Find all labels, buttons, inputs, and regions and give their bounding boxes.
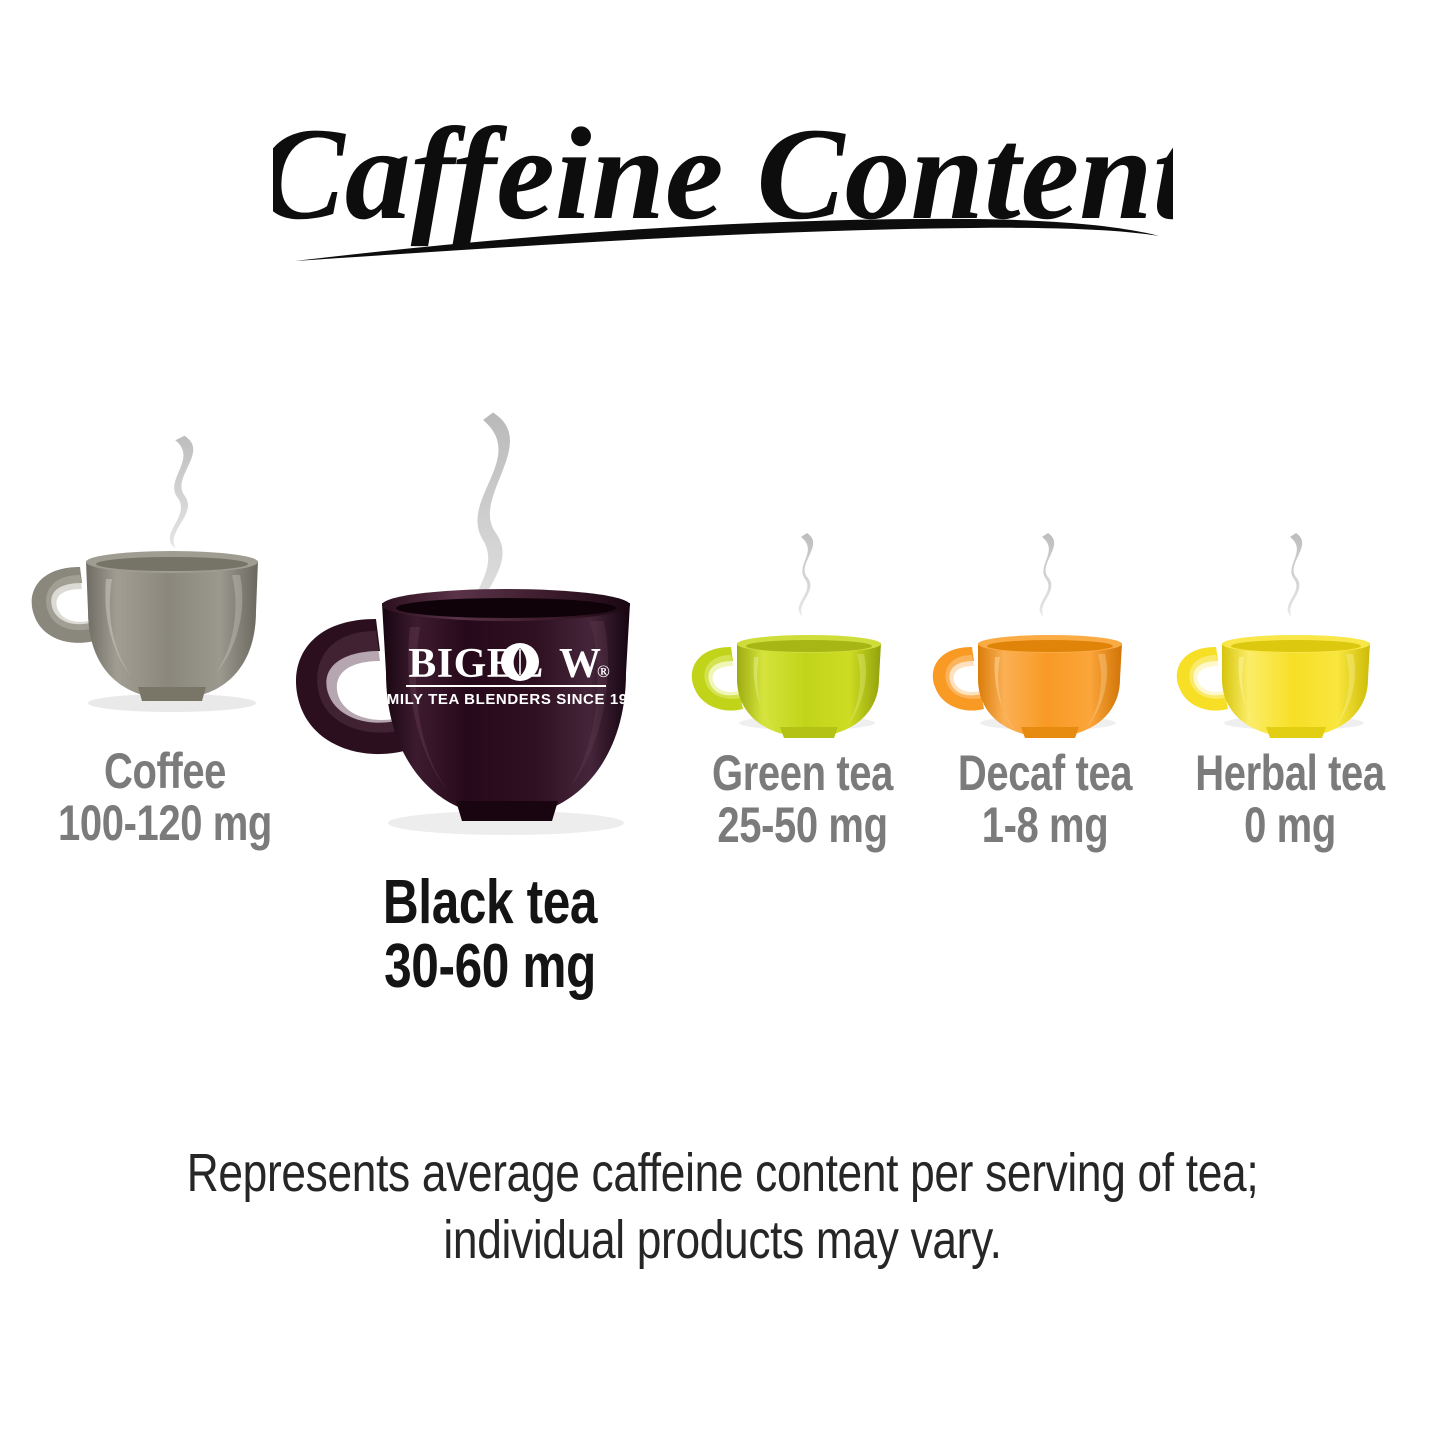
- cup-group-black-tea[interactable]: BIGEL W ® FAMILY TEA BLENDERS SINCE 1945: [270, 405, 710, 1000]
- page-title: Caffeine Content: [0, 98, 1445, 308]
- cup-amount: 25-50 mg: [701, 799, 905, 851]
- disclaimer-line-2: individual products may vary.: [130, 1207, 1315, 1274]
- green-tea-cup-icon: [675, 527, 930, 747]
- cup-label-coffee: Coffee 100-120 mg: [49, 745, 281, 849]
- cup-group-green-tea[interactable]: Green tea 25-50 mg: [675, 527, 930, 851]
- steam-wisp-icon: [1288, 533, 1302, 617]
- cup-group-herbal-tea[interactable]: Herbal tea 0 mg: [1160, 527, 1420, 851]
- disclaimer-line-1: Represents average caffeine content per …: [130, 1140, 1315, 1207]
- cup-comparison-row: Coffee 100-120 mg: [0, 415, 1445, 1035]
- steam-wisp-icon: [1040, 533, 1054, 617]
- cup-group-decaf-tea[interactable]: Decaf tea 1-8 mg: [920, 527, 1170, 851]
- cup-label-black-tea: Black tea 30-60 mg: [314, 871, 666, 1000]
- tea-leaf-icon: [501, 643, 539, 681]
- bigelow-tagline: FAMILY TEA BLENDERS SINCE 1945: [366, 691, 645, 708]
- cup-name: Coffee: [49, 745, 281, 797]
- infographic-canvas: Caffeine Content: [0, 0, 1445, 1445]
- bigelow-wordmark-end: W: [559, 641, 601, 687]
- cup-name: Herbal tea: [1186, 747, 1394, 799]
- cup-amount: 0 mg: [1186, 799, 1394, 851]
- decaf-tea-cup-icon: [920, 527, 1170, 747]
- cup-amount: 30-60 mg: [314, 935, 666, 999]
- cup-label-green-tea: Green tea 25-50 mg: [701, 747, 905, 851]
- cup-name: Green tea: [701, 747, 905, 799]
- steam-wisp-icon: [799, 533, 813, 617]
- cup-label-herbal-tea: Herbal tea 0 mg: [1186, 747, 1394, 851]
- cup-amount: 100-120 mg: [49, 797, 281, 849]
- herbal-tea-cup-icon: [1160, 527, 1420, 747]
- cup-amount: 1-8 mg: [945, 799, 1145, 851]
- steam-wisp-icon: [170, 436, 193, 549]
- disclaimer-text: Represents average caffeine content per …: [0, 1140, 1445, 1274]
- cup-group-coffee[interactable]: Coffee 100-120 mg: [20, 415, 310, 849]
- registered-mark: ®: [597, 662, 610, 681]
- cup-label-decaf-tea: Decaf tea 1-8 mg: [945, 747, 1145, 851]
- bigelow-mug-icon: BIGEL W ® FAMILY TEA BLENDERS SINCE 1945: [270, 405, 710, 865]
- coffee-cup-icon: [20, 415, 310, 745]
- cup-name: Decaf tea: [945, 747, 1145, 799]
- title-script-lettering: Caffeine Content: [273, 98, 1173, 298]
- cup-name: Black tea: [314, 871, 666, 935]
